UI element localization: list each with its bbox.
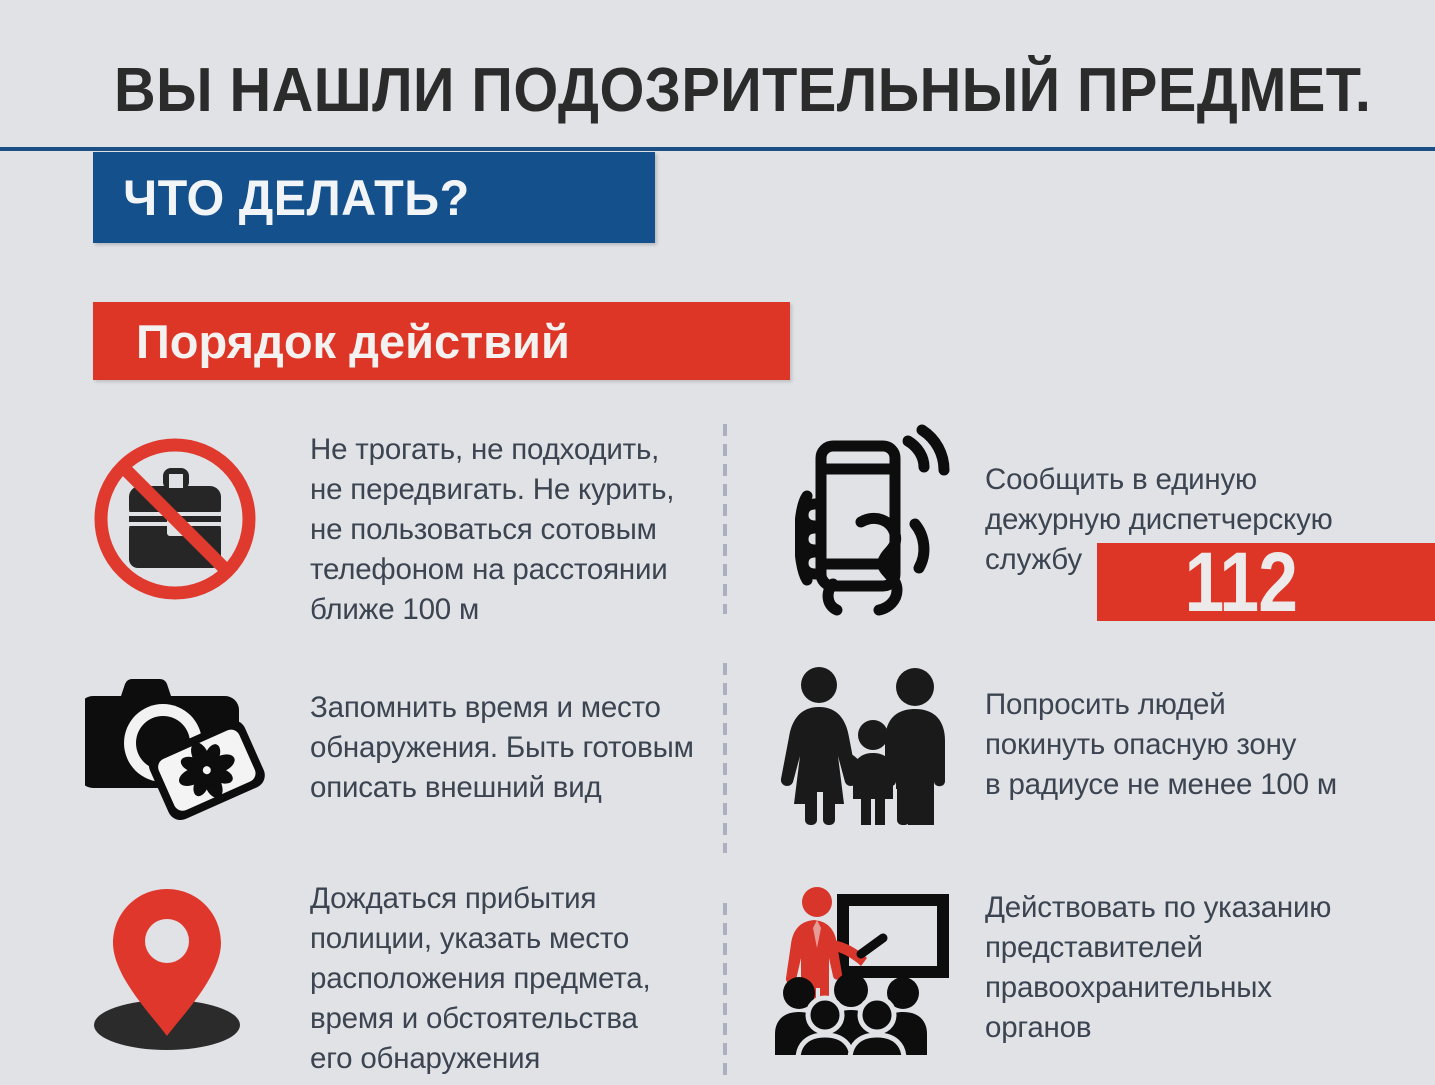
list-item-text: Не трогать, не подходить, не передвигать…	[310, 430, 730, 630]
blue-banner-label: ЧТО ДЕЛАТЬ?	[93, 169, 470, 227]
red-banner: Порядок действий	[93, 302, 790, 380]
page-title: ВЫ НАШЛИ ПОДОЗРИТЕЛЬНЫЙ ПРЕДМЕТ.	[114, 58, 1295, 124]
presenter-audience-icon	[775, 880, 965, 1055]
emergency-number-badge: 112	[1097, 543, 1435, 621]
header-divider-rule	[0, 147, 1435, 151]
list-item-text: Запомнить время и место обнаружения. Быт…	[310, 688, 770, 808]
blue-banner: ЧТО ДЕЛАТЬ?	[93, 152, 655, 243]
list-item-text: Дождаться прибытия полиции, указать мест…	[310, 879, 740, 1079]
list-item-text: Действовать по указанию представителей п…	[985, 888, 1395, 1048]
family-people-icon	[775, 663, 960, 833]
map-pin-icon	[85, 873, 270, 1053]
no-briefcase-icon	[85, 424, 265, 604]
red-banner-label: Порядок действий	[93, 314, 570, 369]
list-item-text: Попросить людей покинуть опасную зону в …	[985, 685, 1405, 805]
camera-photo-icon	[85, 663, 275, 823]
infographic-poster: ВЫ НАШЛИ ПОДОЗРИТЕЛЬНЫЙ ПРЕДМЕТ. ЧТО ДЕЛ…	[0, 0, 1435, 1085]
hand-phone-icon	[795, 424, 970, 619]
emergency-number: 112	[1184, 543, 1297, 621]
